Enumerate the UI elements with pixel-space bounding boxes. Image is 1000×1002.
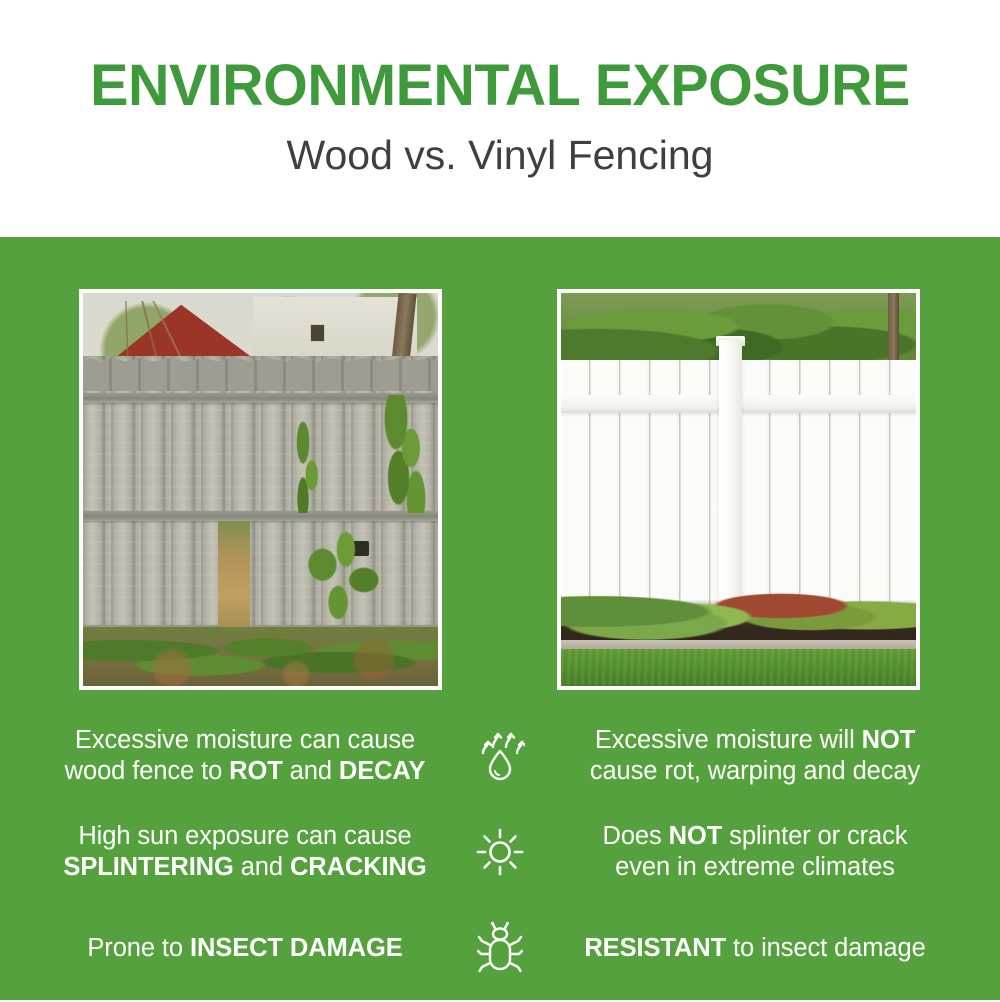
line1: Excessive moisture can cause (75, 726, 415, 754)
infographic-page: ENVIRONMENTAL EXPOSURE Wood vs. Vinyl Fe… (0, 0, 1000, 1000)
wood-photo-frame (79, 289, 442, 690)
climbing-vine (381, 395, 431, 513)
wood-insect-text: Prone to INSECT DAMAGE (30, 933, 460, 964)
line2-prefix: wood fence to (65, 757, 229, 785)
white-vinyl-fence-photo (561, 293, 916, 686)
page-title: ENVIRONMENTAL EXPOSURE (90, 56, 910, 117)
photo-row (0, 289, 1000, 690)
wood-sun-text: High sun exposure can cause SPLINTERING … (30, 821, 460, 883)
vinyl-moisture-text: Excessive moisture will NOT cause rot, w… (540, 725, 970, 787)
weathered-wood-fence-photo (83, 293, 438, 686)
line2-bold-rot: ROT (229, 757, 283, 785)
bare-branches (90, 301, 211, 356)
insect-icon-cell (460, 921, 540, 975)
moisture-droplet-icon (475, 729, 525, 783)
line1-bold-not: NOT (862, 726, 916, 754)
line1-suffix: splinter or crack (722, 822, 907, 850)
line1: High sun exposure can cause (78, 822, 411, 850)
moisture-icon-cell (460, 729, 540, 783)
line2-mid: and (234, 853, 290, 881)
sun-icon (475, 827, 525, 877)
page-subtitle: Wood vs. Vinyl Fencing (287, 133, 714, 178)
vinyl-sun-text: Does NOT splinter or crack even in extre… (540, 821, 970, 883)
comparison-row-insect: Prone to INSECT DAMAGE (0, 906, 1000, 990)
sun-icon-cell (460, 827, 540, 877)
overgrown-ground (83, 627, 438, 686)
line1-bold-not: NOT (669, 822, 723, 850)
vinyl-photo-frame (557, 289, 920, 690)
comparison-row-moisture: Excessive moisture can cause wood fence … (0, 714, 1000, 798)
green-lawn (561, 649, 916, 686)
comparison-rows: Excessive moisture can cause wood fence … (0, 714, 1000, 1002)
wood-moisture-text: Excessive moisture can cause wood fence … (30, 725, 460, 787)
line2-bold-cracking: CRACKING (290, 853, 427, 881)
line1-bold-insect-damage: INSECT DAMAGE (190, 934, 403, 962)
line1-prefix: Prone to (87, 934, 190, 962)
line1-prefix: Excessive moisture will (595, 726, 862, 754)
house-window (310, 324, 325, 342)
header: ENVIRONMENTAL EXPOSURE Wood vs. Vinyl Fe… (0, 0, 1000, 237)
climbing-vine (303, 529, 381, 631)
line2: cause rot, warping and decay (590, 757, 920, 785)
line2-bold-decay: DECAY (339, 757, 425, 785)
vinyl-insect-text: RESISTANT to insect damage (540, 933, 970, 964)
comparison-panel: Excessive moisture can cause wood fence … (0, 237, 1000, 1000)
line1-prefix: Does (603, 822, 669, 850)
line2-mid: and (283, 757, 339, 785)
climbing-vine (289, 419, 325, 513)
line2: even in extreme climates (615, 853, 895, 881)
line1-suffix: to insect damage (726, 934, 926, 962)
shrub-planting-bed (561, 568, 916, 647)
insect-bug-icon (477, 921, 523, 975)
missing-board-gap (218, 521, 250, 627)
line2-bold-splintering: SPLINTERING (63, 853, 233, 881)
wood-picket-tops (83, 356, 438, 391)
line1-bold-resistant: RESISTANT (584, 934, 726, 962)
comparison-row-sun: High sun exposure can cause SPLINTERING … (0, 810, 1000, 894)
